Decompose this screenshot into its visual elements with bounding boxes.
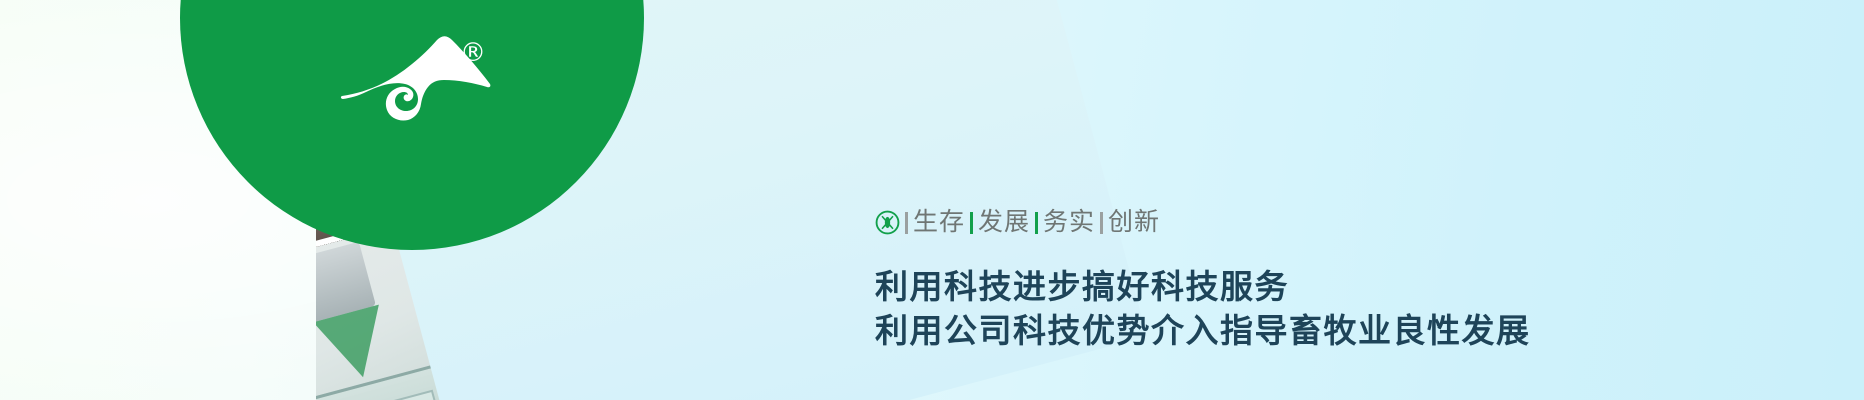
headline-line-1: 利用科技进步搞好科技服务 xyxy=(875,265,1531,309)
slogan-separator-1 xyxy=(970,212,973,234)
slogan-separator-3 xyxy=(1100,212,1103,234)
slogan-word-2: 务实 xyxy=(1043,210,1095,235)
banner-text-block: 生存 发展 务实 创新 利用科技进步搞好科技服务 利用公司科技优势介入指导畜牧业… xyxy=(875,210,1531,353)
slogan-separator-2 xyxy=(1035,212,1038,234)
registered-trademark-mark: ® xyxy=(460,40,486,66)
hero-banner: ® 生存 发展 务实 创新 利用科技进步搞好科技服务 利用公司科技优势介入指导畜… xyxy=(0,0,1864,400)
company-slogan: 生存 发展 务实 创新 xyxy=(875,210,1531,235)
slogan-separator-0 xyxy=(905,212,908,234)
headline-line-2: 利用公司科技优势介入指导畜牧业良性发展 xyxy=(875,309,1531,353)
green-circle-emblem-icon xyxy=(875,210,900,235)
slogan-word-3: 创新 xyxy=(1108,210,1160,235)
slogan-word-0: 生存 xyxy=(913,210,965,235)
slogan-word-1: 发展 xyxy=(978,210,1030,235)
